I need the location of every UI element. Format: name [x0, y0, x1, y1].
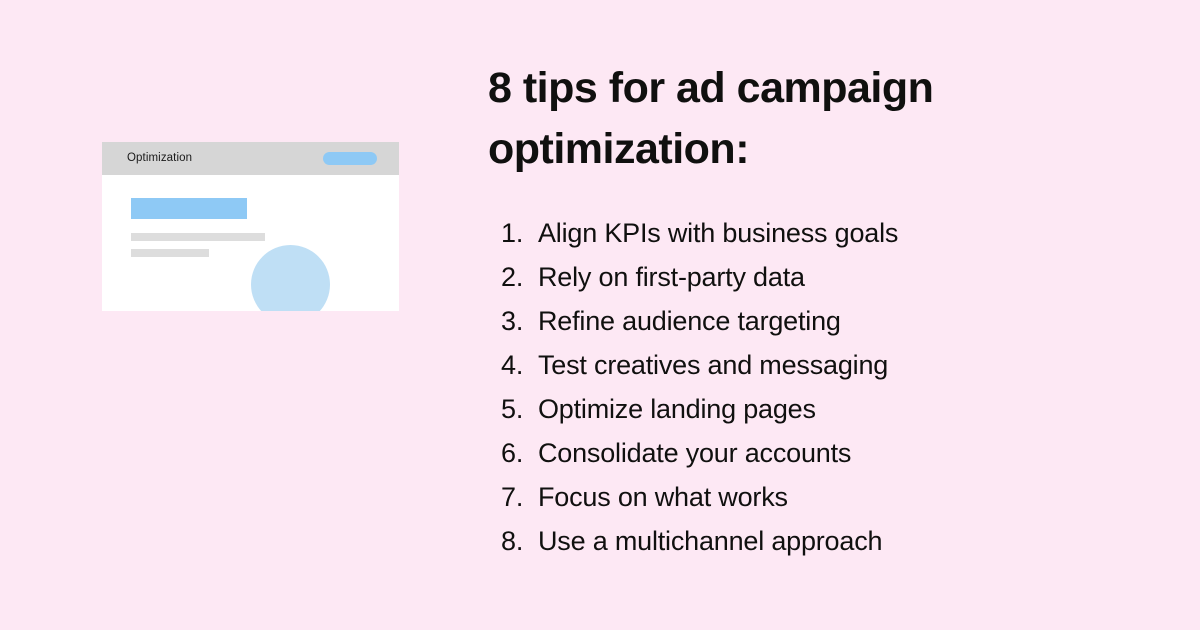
optimization-dashboard-illustration: Optimization: [102, 142, 399, 311]
illustration-header-bar: Optimization: [102, 142, 399, 175]
list-item: 4. Test creatives and messaging: [501, 343, 1121, 387]
list-item-label: Refine audience targeting: [538, 299, 841, 343]
tips-list: 1. Align KPIs with business goals 2. Rel…: [501, 211, 1121, 563]
illustration-header-title: Optimization: [127, 150, 192, 166]
page-title: 8 tips for ad campaign optimization:: [488, 58, 1028, 180]
gray-text-placeholder-short-icon: [131, 249, 209, 257]
list-item-label: Align KPIs with business goals: [538, 211, 898, 255]
list-item-label: Test creatives and messaging: [538, 343, 888, 387]
list-item-number: 8.: [501, 519, 538, 563]
list-item-number: 5.: [501, 387, 538, 431]
blue-pill-button-icon: [323, 152, 377, 165]
blue-circle-chart-icon: [251, 245, 330, 311]
list-item: 5. Optimize landing pages: [501, 387, 1121, 431]
illustration-body: [102, 175, 399, 311]
gray-text-placeholder-long-icon: [131, 233, 265, 241]
list-item-label: Use a multichannel approach: [538, 519, 882, 563]
list-item: 2. Rely on first-party data: [501, 255, 1121, 299]
infographic-canvas: Optimization 8 tips for ad campaign opti…: [0, 0, 1200, 630]
list-item-number: 7.: [501, 475, 538, 519]
list-item-number: 4.: [501, 343, 538, 387]
list-item: 7. Focus on what works: [501, 475, 1121, 519]
list-item-label: Optimize landing pages: [538, 387, 816, 431]
list-item-number: 6.: [501, 431, 538, 475]
list-item-number: 1.: [501, 211, 538, 255]
list-item: 8. Use a multichannel approach: [501, 519, 1121, 563]
list-item-label: Focus on what works: [538, 475, 788, 519]
list-item-number: 2.: [501, 255, 538, 299]
blue-title-placeholder-icon: [131, 198, 247, 219]
content-column: 8 tips for ad campaign optimization: 1. …: [488, 58, 1148, 180]
list-item: 1. Align KPIs with business goals: [501, 211, 1121, 255]
list-item: 6. Consolidate your accounts: [501, 431, 1121, 475]
list-item-label: Consolidate your accounts: [538, 431, 851, 475]
list-item-number: 3.: [501, 299, 538, 343]
list-item-label: Rely on first-party data: [538, 255, 805, 299]
list-item: 3. Refine audience targeting: [501, 299, 1121, 343]
